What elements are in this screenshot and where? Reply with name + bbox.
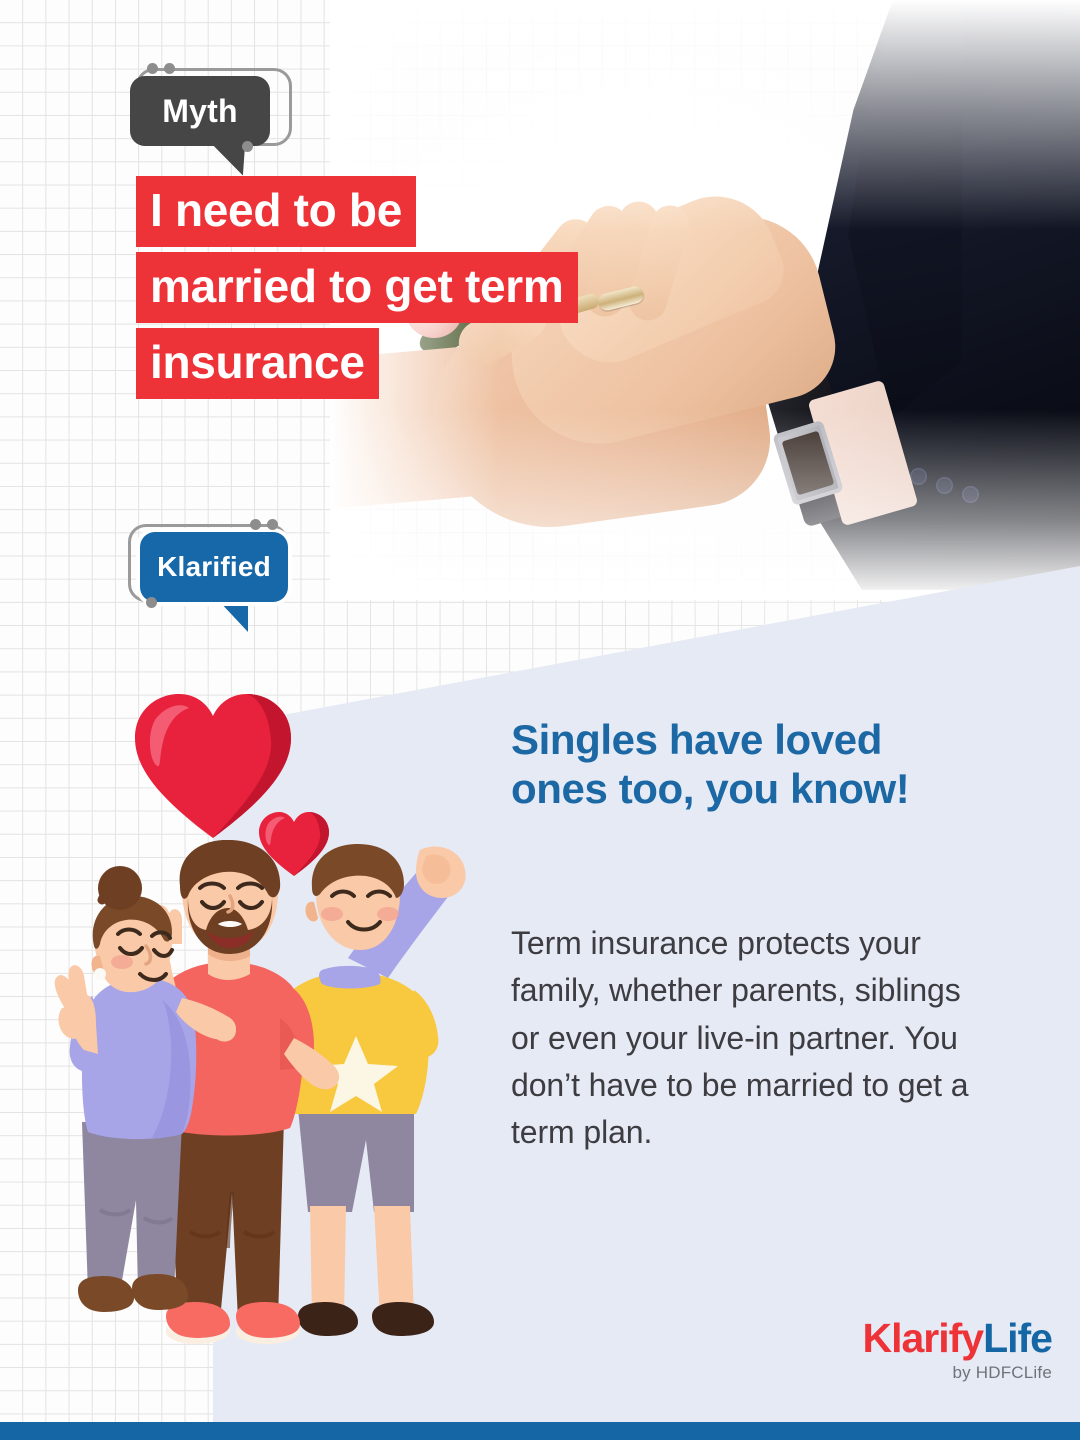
badge-dot-icon	[267, 519, 278, 530]
logo-wordmark: KlarifyLife	[812, 1318, 1052, 1359]
klarified-headline: Singles have loved ones too, you know!	[511, 716, 981, 813]
myth-headline-line: I need to be	[136, 176, 416, 247]
myth-badge: Myth	[118, 62, 298, 172]
badge-dot-icon	[147, 63, 158, 74]
badge-dot-icon	[242, 141, 253, 152]
myth-headline-line: married to get term	[136, 252, 578, 323]
myth-headline: I need to be married to get term insuran…	[136, 176, 736, 404]
klarified-badge-label: Klarified	[140, 532, 288, 602]
badge-dot-icon	[250, 519, 261, 530]
badge-dot-icon	[146, 597, 157, 608]
myth-badge-label: Myth	[130, 76, 270, 146]
suit-buttons	[910, 468, 1020, 508]
klarified-badge: Klarified	[120, 518, 310, 628]
myth-badge-tail	[199, 143, 245, 176]
klarified-badge-tail	[210, 600, 248, 632]
poster-canvas: Myth I need to be married to get term in…	[0, 0, 1080, 1440]
badge-dot-icon	[164, 63, 175, 74]
logo-tagline: by HDFCLife	[812, 1363, 1052, 1383]
bottom-accent-bar	[0, 1422, 1080, 1440]
klarified-body-text: Term insurance protects your family, whe…	[511, 920, 981, 1157]
logo-klarify-text: Klarify	[862, 1315, 983, 1361]
myth-headline-line: insurance	[136, 328, 379, 399]
friends-illustration	[22, 840, 492, 1400]
klarify-life-logo[interactable]: KlarifyLife by HDFCLife	[812, 1318, 1052, 1383]
logo-life-text: Life	[983, 1315, 1052, 1361]
